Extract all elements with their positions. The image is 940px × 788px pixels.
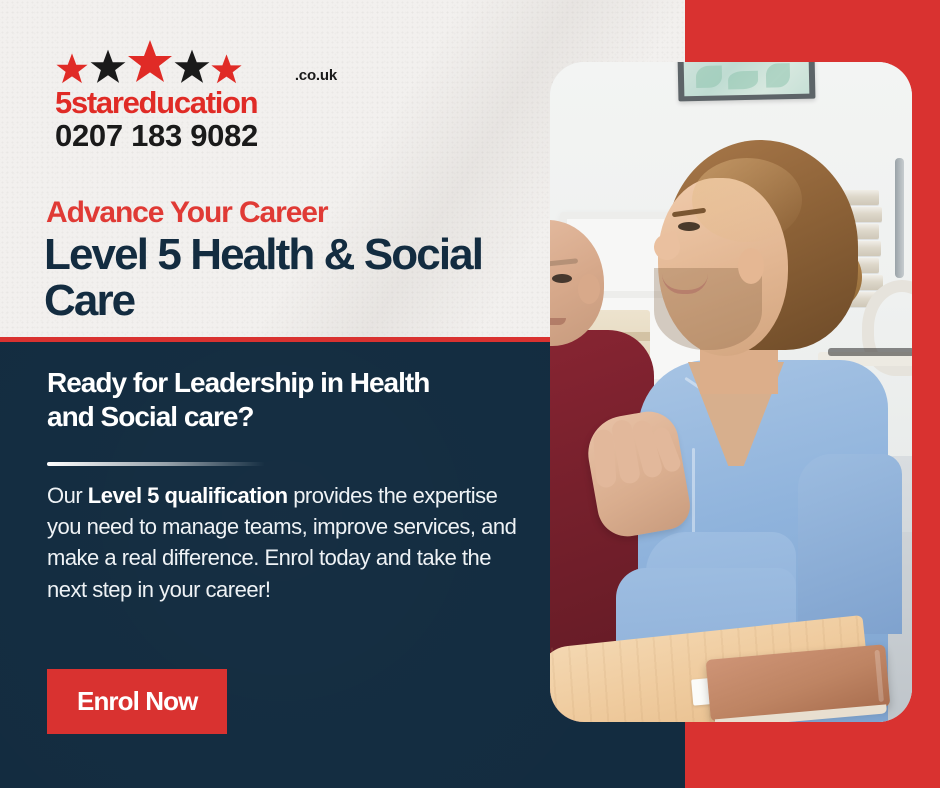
five-star-rating-icon: .co.uk xyxy=(55,40,295,86)
table-object xyxy=(828,348,912,356)
star-icon-1 xyxy=(55,52,89,86)
body-paragraph: Our Level 5 qualification provides the e… xyxy=(47,480,517,605)
phone-number-label[interactable]: 0207 183 9082 xyxy=(55,120,295,153)
body-bold-text: Level 5 qualification xyxy=(88,483,288,508)
domain-suffix-label: .co.uk xyxy=(295,67,337,84)
page-title: Level 5 Health & Social Care xyxy=(44,232,514,324)
elderly-man-ear xyxy=(578,274,600,304)
nurse-ear xyxy=(738,248,764,284)
gradient-divider-rule xyxy=(47,462,265,466)
body-lead-text: Our xyxy=(47,483,88,508)
eyebrow-text: Advance Your Career xyxy=(46,198,327,228)
hero-photo xyxy=(550,62,912,722)
brand-name-label: 5stareducation xyxy=(55,87,295,118)
lamp-pole xyxy=(895,158,904,278)
star-icon-5 xyxy=(210,53,243,86)
star-icon-2 xyxy=(89,48,127,86)
nurse-eye xyxy=(678,222,700,231)
star-icon-4 xyxy=(173,48,211,86)
framed-picture xyxy=(678,62,816,101)
advertisement-poster: .co.uk 5stareducation 0207 183 9082 Adva… xyxy=(0,0,940,788)
nurse-sleeve xyxy=(798,454,902,634)
subheading-text: Ready for Leadership in Health and Socia… xyxy=(47,366,467,434)
elderly-man-eye xyxy=(552,274,572,283)
star-icon-3 xyxy=(126,38,174,86)
enrol-now-button[interactable]: Enrol Now xyxy=(47,669,227,734)
brand-logo[interactable]: .co.uk 5stareducation 0207 183 9082 xyxy=(55,40,295,153)
nurse-hair-highlight xyxy=(692,158,802,242)
picture-artwork xyxy=(684,62,810,96)
